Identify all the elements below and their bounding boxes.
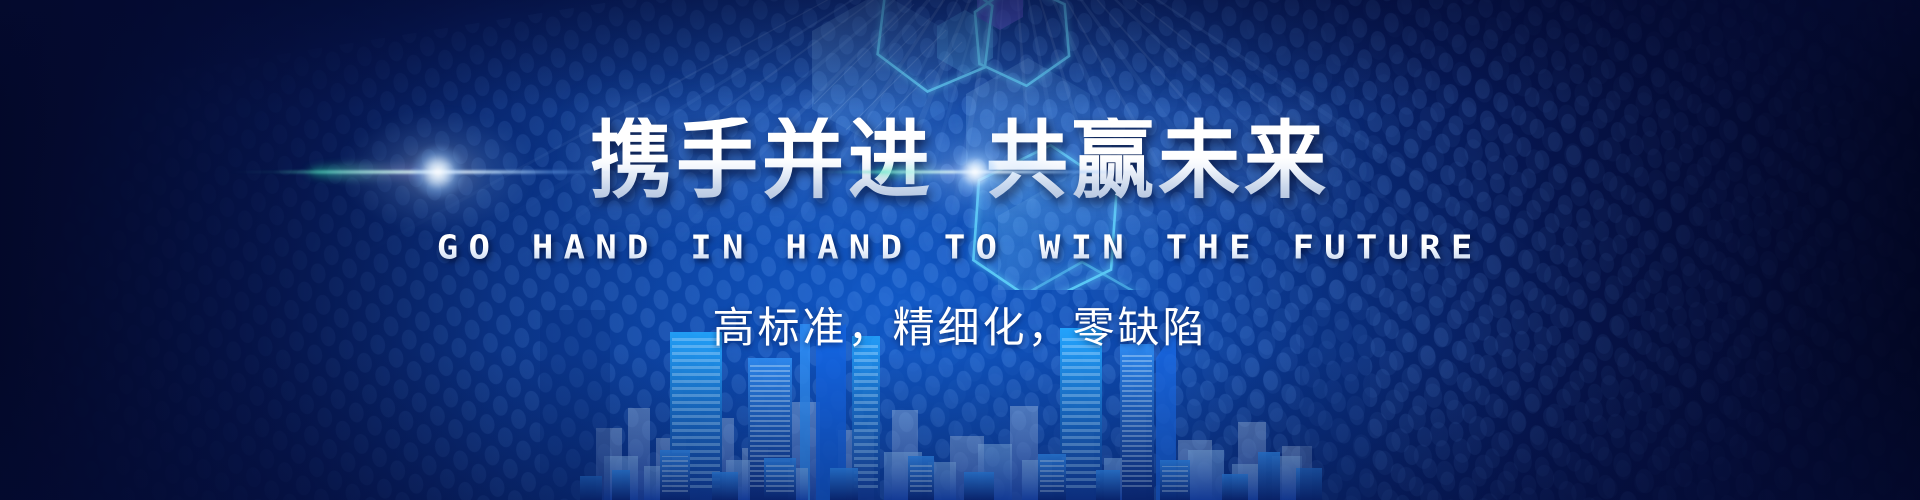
banner-content: 携手并进 共赢未来 GO HAND IN HAND TO WIN THE FUT… xyxy=(0,0,1920,500)
headline-part-two: 共赢未来 xyxy=(986,118,1330,205)
chinese-tagline: 高标准，精细化，零缺陷 xyxy=(712,294,1207,355)
headline-part-one: 携手并进 xyxy=(590,118,934,205)
english-subtitle: GO HAND IN HAND TO WIN THE FUTURE xyxy=(437,229,1483,267)
main-headline: 携手并进 共赢未来 xyxy=(590,120,1330,202)
technology-hero-banner: 携手并进 共赢未来 GO HAND IN HAND TO WIN THE FUT… xyxy=(0,0,1920,500)
